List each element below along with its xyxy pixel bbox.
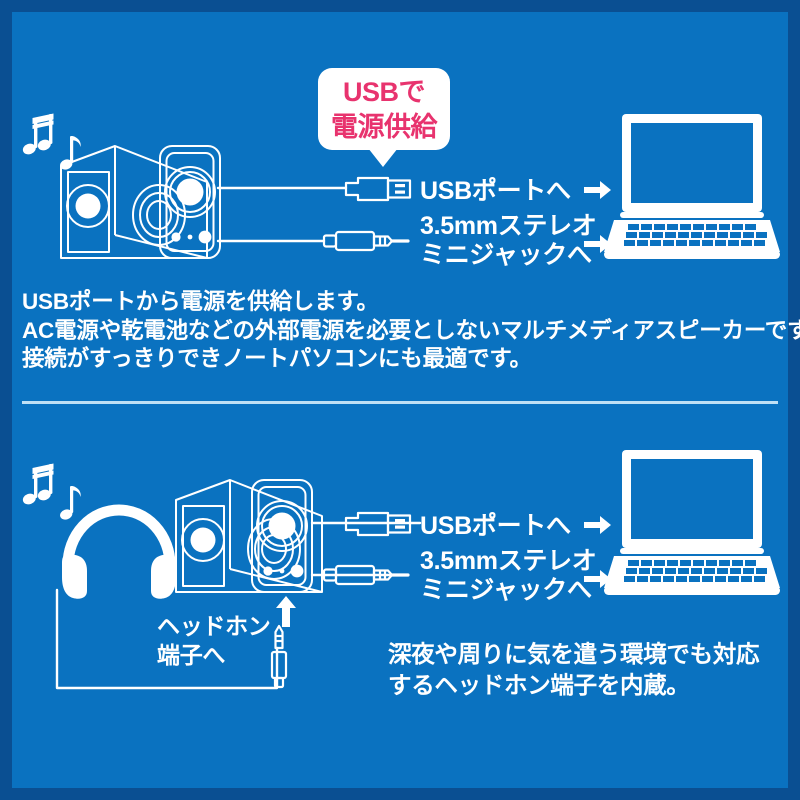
speaker-satellite-icon-bottom	[250, 478, 316, 594]
headphone-jack-label: ヘッドホン 端子へ	[157, 612, 271, 670]
label-stereo-mini-top-line1: 3.5mmステレオ	[420, 211, 597, 241]
label-usb-port-top: USBポートへ	[420, 176, 571, 206]
laptop-icon-top	[600, 112, 782, 262]
bottom-desc-line-2: するヘッドホン端子を内蔵。	[388, 670, 759, 701]
usb-plug-icon-bottom	[344, 510, 414, 538]
label-stereo-mini-bottom-line1: 3.5mmステレオ	[420, 546, 597, 576]
top-body-copy: USBポートから電源を供給します。 AC電源や乾電池などの外部電源を必要としない…	[22, 288, 800, 374]
speaker-satellite-icon	[158, 144, 224, 260]
section-divider	[22, 401, 778, 404]
top-body-line-1: USBポートから電源を供給します。	[22, 288, 800, 317]
bottom-desc-line-1: 深夜や周りに気を遣う環境でも対応	[388, 639, 759, 670]
headphone-jack-label-line2: 端子へ	[157, 641, 271, 670]
infographic-page: USBポートへ 3.5mmステレオ ミニジャックへ	[0, 0, 800, 800]
callout-bubble-line1: USBで	[343, 75, 425, 110]
headphones-icon	[60, 473, 178, 598]
label-usb-port-bottom: USBポートへ	[420, 511, 571, 541]
callout-bubble-line2: 電源供給	[331, 110, 437, 145]
stereo-mini-plug-icon	[322, 229, 410, 255]
arrow-up-icon-headphone	[275, 596, 297, 628]
label-stereo-mini-top-line2: ミニジャックへ	[420, 240, 592, 270]
music-note-beamed-icon	[21, 114, 53, 157]
bottom-description-copy: 深夜や周りに気を遣う環境でも対応 するヘッドホン端子を内蔵。	[388, 639, 759, 701]
laptop-icon-bottom	[600, 448, 782, 598]
top-body-line-2: AC電源や乾電池などの外部電源を必要としないマルチメディアスピーカーです。	[22, 317, 800, 346]
usb-plug-icon	[344, 175, 414, 203]
headphone-jack-label-line1: ヘッドホン	[157, 612, 271, 641]
callout-bubble: USBで 電源供給	[318, 68, 450, 150]
top-body-line-3: 接続がすっきりできノートパソコンにも最適です。	[22, 345, 800, 374]
stereo-mini-plug-icon-bottom	[322, 563, 410, 589]
label-stereo-mini-bottom-line2: ミニジャックへ	[420, 575, 592, 605]
music-note-beamed-icon	[21, 464, 53, 507]
callout-bubble-tail	[368, 148, 398, 167]
